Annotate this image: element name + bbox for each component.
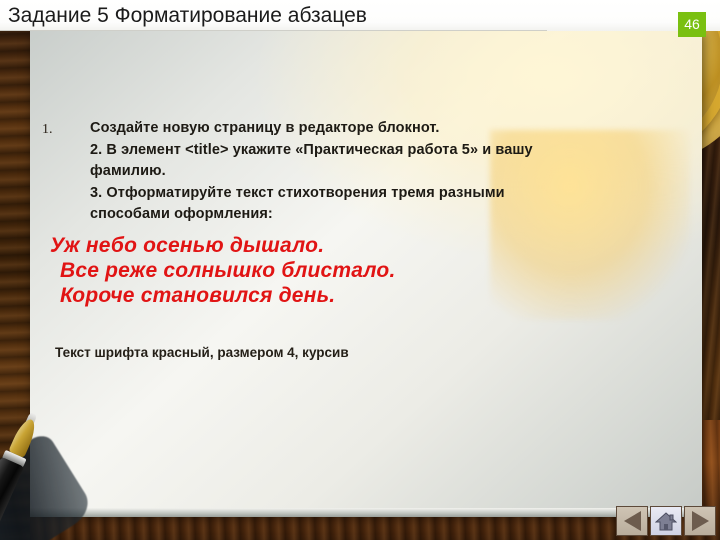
slide-canvas: Задание 5 Форматирование абзацев 46 1. С… <box>0 0 720 540</box>
pen-nib <box>8 416 39 458</box>
status-badge: 46 <box>678 12 706 37</box>
html-title-tag: <title> <box>185 142 228 158</box>
previous-slide-button[interactable] <box>616 506 648 536</box>
arrow-right-icon <box>692 511 709 531</box>
list-marker: 1. <box>42 118 90 140</box>
poem-line-3: Короче становился день. <box>50 283 582 308</box>
list-item: 1. Создайте новую страницу в редакторе б… <box>42 118 582 226</box>
home-button[interactable] <box>650 506 682 536</box>
next-slide-button[interactable] <box>684 506 716 536</box>
instructions-text: Создайте новую страницу в редакторе блок… <box>90 118 582 226</box>
poem-block: Уж небо осенью дышало. Все реже солнышко… <box>42 233 582 308</box>
page-title: Задание 5 Форматирование абзацев <box>8 2 367 29</box>
poem-line-2: Все реже солнышко блистало. <box>50 258 582 283</box>
formatting-caption: Текст шрифта красный, размером 4, курсив <box>55 345 349 360</box>
slide-navigation <box>616 506 716 536</box>
home-icon <box>655 511 677 531</box>
paper-sheet-edge <box>30 508 702 517</box>
instruction-line-1: Создайте новую страницу в редакторе блок… <box>90 120 439 136</box>
content-block: 1. Создайте новую страницу в редакторе б… <box>42 118 582 308</box>
instruction-line-3: 3. Отформатируйте текст стихотворения тр… <box>90 185 505 223</box>
arrow-left-icon <box>624 511 641 531</box>
title-underline-rule <box>0 30 547 31</box>
poem-line-1: Уж небо осенью дышало. <box>50 233 582 258</box>
instruction-line-2-prefix: 2. В элемент <box>90 142 185 158</box>
